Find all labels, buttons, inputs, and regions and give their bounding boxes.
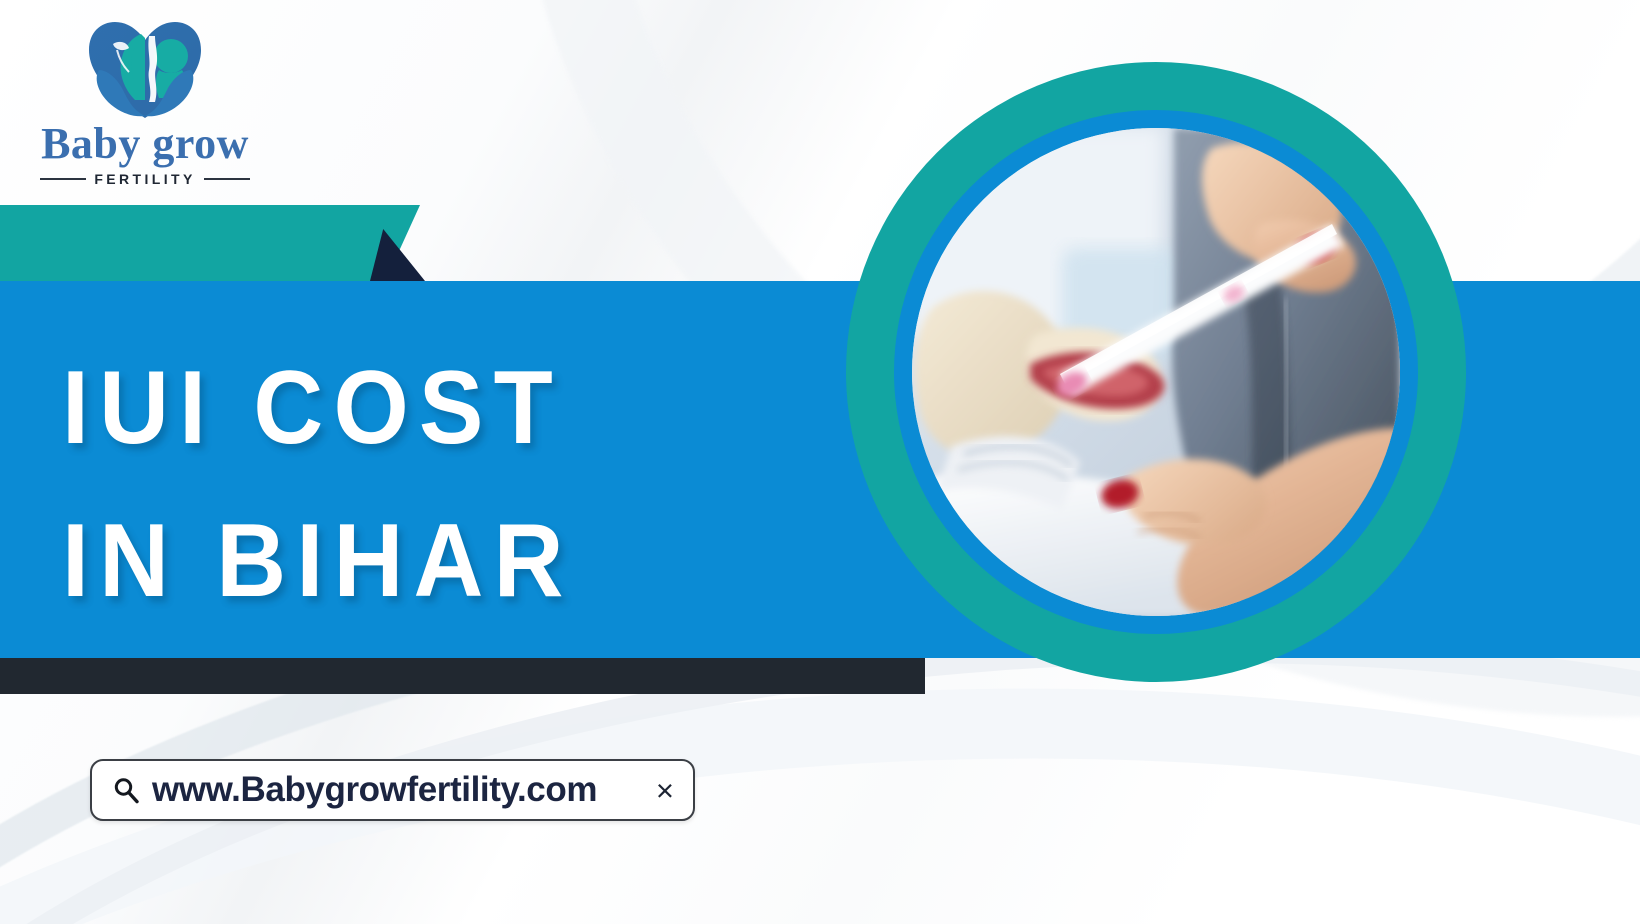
close-icon[interactable]: × (656, 775, 674, 806)
promo-banner: Baby grow FERTILITY IUI COST IN BIHAR ww… (0, 0, 1640, 924)
page-title: IUI COST IN BIHAR (62, 332, 825, 638)
heart-hands-mother-baby-icon (83, 16, 207, 120)
logo-rule-right (204, 178, 250, 180)
brand-logo[interactable]: Baby grow FERTILITY (30, 16, 260, 187)
logo-tagline: FERTILITY (94, 171, 195, 187)
search-bar[interactable]: www.Babygrowfertility.com × (90, 759, 695, 821)
search-icon[interactable] (111, 775, 141, 805)
logo-tagline-row: FERTILITY (30, 171, 260, 187)
charcoal-accent-bar (0, 658, 925, 694)
search-input[interactable]: www.Babygrowfertility.com (152, 770, 645, 810)
logo-wordmark: Baby grow (30, 118, 260, 169)
photo-image (912, 128, 1400, 616)
hero-photo (846, 62, 1466, 682)
logo-rule-left (40, 178, 86, 180)
